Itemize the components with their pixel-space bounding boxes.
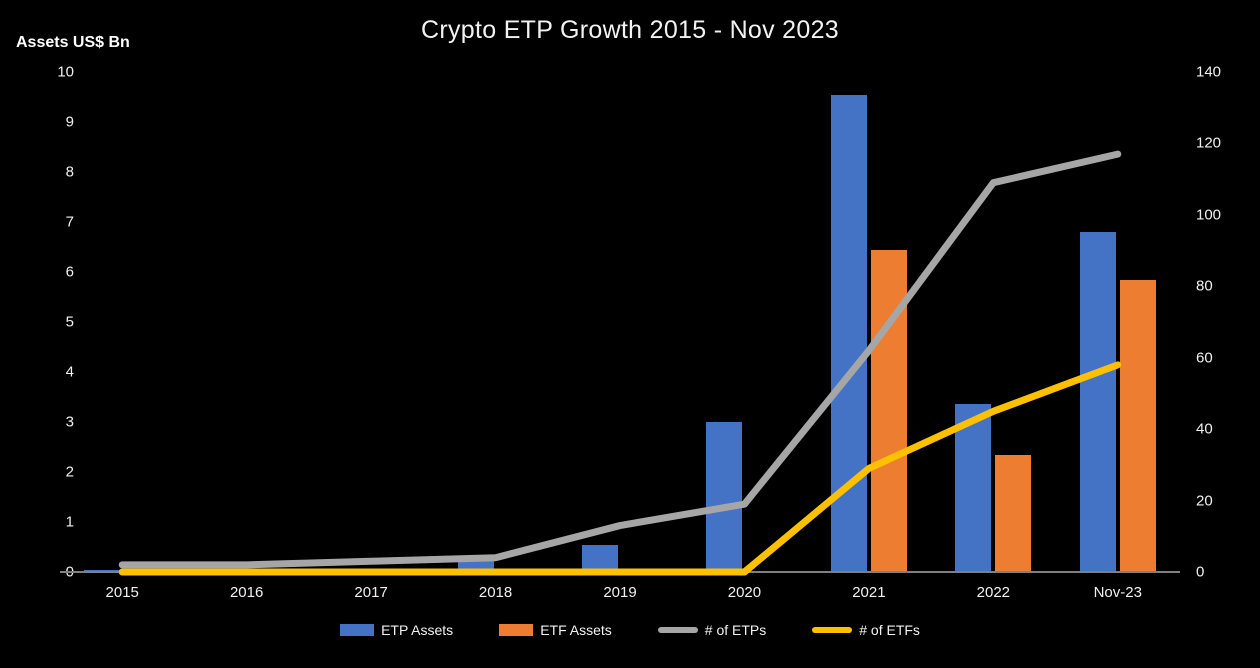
chart-container: Crypto ETP Growth 2015 - Nov 2023 Assets…: [0, 0, 1260, 668]
legend-item-label: # of ETFs: [859, 622, 920, 638]
x-axis-tick: 2021: [809, 584, 929, 601]
legend-swatch-icon: [812, 627, 852, 633]
x-axis-tick: 2020: [684, 584, 804, 601]
chart-title: Crypto ETP Growth 2015 - Nov 2023: [0, 16, 1260, 45]
x-axis-tick: 2015: [62, 584, 182, 601]
legend-item[interactable]: # of ETFs: [812, 622, 920, 638]
x-axis-tick: 2018: [436, 584, 556, 601]
y-axis-right-tick: 140: [1196, 64, 1246, 81]
y-axis-right-tick: 100: [1196, 206, 1246, 223]
legend-swatch-icon: [658, 627, 698, 633]
legend-item-label: # of ETPs: [705, 622, 766, 638]
legend-item[interactable]: # of ETPs: [658, 622, 766, 638]
legend-item-label: ETP Assets: [381, 622, 453, 638]
x-axis-tick: Nov-23: [1058, 584, 1178, 601]
y-axis-left-title: Assets US$ Bn: [16, 34, 130, 52]
bar-etf-assets: [1120, 280, 1156, 573]
legend-item[interactable]: ETP Assets: [340, 622, 453, 638]
bar-etp-assets: [831, 95, 867, 572]
legend-swatch-icon: [499, 624, 533, 636]
plot-area: [60, 72, 1180, 572]
y-axis-right-tick: 0: [1196, 564, 1246, 581]
y-axis-right-tick: 20: [1196, 492, 1246, 509]
y-axis-right-tick: 60: [1196, 349, 1246, 366]
bar-etf-assets: [995, 455, 1031, 572]
axis-baseline: [60, 571, 1180, 573]
x-axis-tick: 2016: [187, 584, 307, 601]
x-axis-tick: 2022: [933, 584, 1053, 601]
y-axis-right-tick: 40: [1196, 421, 1246, 438]
legend-item[interactable]: ETF Assets: [499, 622, 612, 638]
bar-etp-assets: [1080, 232, 1116, 572]
y-axis-right-tick: 120: [1196, 135, 1246, 152]
bar-etp-assets: [582, 545, 618, 573]
chart-legend: ETP AssetsETF Assets# of ETPs# of ETFs: [0, 622, 1260, 638]
bar-etp-assets: [955, 404, 991, 572]
y-axis-right-tick: 80: [1196, 278, 1246, 295]
x-axis-tick: 2019: [560, 584, 680, 601]
x-axis-tick: 2017: [311, 584, 431, 601]
legend-swatch-icon: [340, 624, 374, 636]
bar-etf-assets: [871, 250, 907, 572]
bar-etp-assets: [706, 422, 742, 572]
legend-item-label: ETF Assets: [540, 622, 612, 638]
